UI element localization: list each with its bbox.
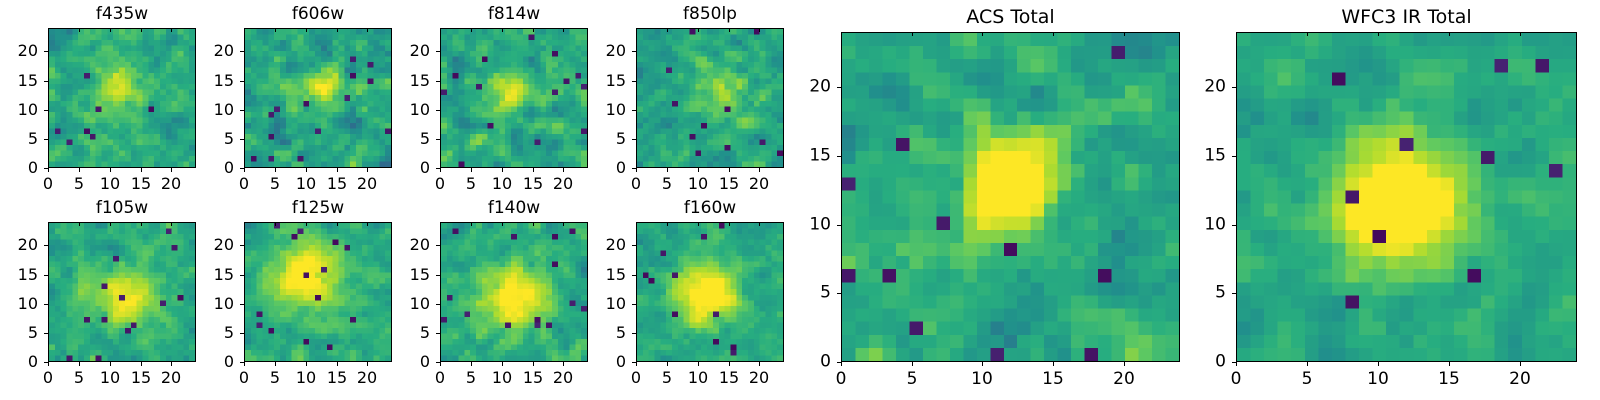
y-tick-f125w-15 bbox=[240, 275, 244, 276]
y-tick-label-f140w-15: 15 bbox=[400, 267, 430, 283]
x-tick-label-f435w-20: 20 bbox=[161, 176, 181, 192]
x-tick-f606w-5 bbox=[275, 168, 276, 172]
y-tick-f606w-15 bbox=[240, 81, 244, 82]
y-tick-f606w-0 bbox=[240, 168, 244, 169]
x-tick-label-f105w-20: 20 bbox=[161, 370, 181, 386]
x-tick-label-acs-total-5: 5 bbox=[907, 371, 918, 388]
x-tick-label-acs-total-15: 15 bbox=[1042, 371, 1064, 388]
y-tick-f125w-20 bbox=[240, 245, 244, 246]
y-tick-f105w-10 bbox=[44, 304, 48, 305]
x-tick-label-f850lp-20: 20 bbox=[749, 176, 769, 192]
x-tick-f850lp-5 bbox=[667, 168, 668, 172]
x-tick-f160w-10 bbox=[698, 362, 699, 366]
x-tick-top-f814w-10 bbox=[502, 28, 503, 32]
y-tick-label-f105w-15: 15 bbox=[8, 267, 38, 283]
y-tick-label-f105w-20: 20 bbox=[8, 237, 38, 253]
x-tick-top-acs-total-0 bbox=[841, 32, 842, 36]
x-tick-top-acs-total-5 bbox=[912, 32, 913, 36]
y-tick-label-wfc3-ir-total-10: 10 bbox=[1192, 217, 1226, 234]
x-tick-f125w-20 bbox=[367, 362, 368, 366]
y-tick-label-wfc3-ir-total-0: 0 bbox=[1192, 354, 1226, 371]
x-tick-label-f160w-20: 20 bbox=[749, 370, 769, 386]
x-tick-top-wfc3-ir-total-15 bbox=[1449, 32, 1450, 36]
x-tick-top-acs-total-15 bbox=[1053, 32, 1054, 36]
y-tick-f814w-20 bbox=[436, 51, 440, 52]
axes-wfc3-ir-total bbox=[1236, 32, 1577, 362]
y-tick-f140w-20 bbox=[436, 245, 440, 246]
y-tick-label-f105w-0: 0 bbox=[8, 354, 38, 370]
x-tick-wfc3-ir-total-5 bbox=[1307, 362, 1308, 366]
panel-title-f105w: f105w bbox=[48, 200, 196, 217]
panel-title-f125w: f125w bbox=[244, 200, 392, 217]
x-tick-label-wfc3-ir-total-0: 0 bbox=[1231, 371, 1242, 388]
x-tick-f125w-15 bbox=[337, 362, 338, 366]
panel-title-f814w: f814w bbox=[440, 6, 588, 23]
y-tick-acs-total-5 bbox=[837, 293, 841, 294]
x-tick-f105w-15 bbox=[141, 362, 142, 366]
axes-f606w bbox=[244, 28, 392, 168]
y-tick-label-acs-total-15: 15 bbox=[797, 148, 831, 165]
y-tick-label-f140w-5: 5 bbox=[400, 325, 430, 341]
x-tick-f140w-15 bbox=[533, 362, 534, 366]
x-tick-label-f814w-5: 5 bbox=[466, 176, 476, 192]
x-tick-label-wfc3-ir-total-20: 20 bbox=[1509, 371, 1531, 388]
y-tick-label-f606w-10: 10 bbox=[204, 102, 234, 118]
x-tick-label-wfc3-ir-total-15: 15 bbox=[1438, 371, 1460, 388]
x-tick-f850lp-0 bbox=[636, 168, 637, 172]
x-tick-wfc3-ir-total-20 bbox=[1520, 362, 1521, 366]
y-tick-f140w-5 bbox=[436, 333, 440, 334]
x-tick-top-f814w-20 bbox=[563, 28, 564, 32]
x-tick-f435w-15 bbox=[141, 168, 142, 172]
y-tick-label-f814w-15: 15 bbox=[400, 73, 430, 89]
heatmap-image-f606w bbox=[245, 29, 391, 167]
y-tick-label-f160w-15: 15 bbox=[596, 267, 626, 283]
y-tick-f125w-0 bbox=[240, 362, 244, 363]
y-tick-f435w-5 bbox=[44, 139, 48, 140]
x-tick-label-f105w-5: 5 bbox=[74, 370, 84, 386]
x-tick-f125w-0 bbox=[244, 362, 245, 366]
x-tick-top-f140w-15 bbox=[533, 222, 534, 226]
x-tick-top-f435w-10 bbox=[110, 28, 111, 32]
heatmap-image-wfc3-ir-total bbox=[1237, 33, 1576, 361]
y-tick-f140w-15 bbox=[436, 275, 440, 276]
x-tick-top-f606w-15 bbox=[337, 28, 338, 32]
y-tick-label-wfc3-ir-total-15: 15 bbox=[1192, 148, 1226, 165]
y-tick-label-f850lp-0: 0 bbox=[596, 160, 626, 176]
axes-f105w bbox=[48, 222, 196, 362]
y-tick-f140w-10 bbox=[436, 304, 440, 305]
x-tick-wfc3-ir-total-10 bbox=[1378, 362, 1379, 366]
x-tick-top-f850lp-5 bbox=[667, 28, 668, 32]
x-tick-label-f606w-20: 20 bbox=[357, 176, 377, 192]
y-tick-label-f125w-20: 20 bbox=[204, 237, 234, 253]
x-tick-top-f814w-15 bbox=[533, 28, 534, 32]
x-tick-label-f606w-0: 0 bbox=[239, 176, 249, 192]
y-tick-label-f125w-15: 15 bbox=[204, 267, 234, 283]
x-tick-top-f125w-5 bbox=[275, 222, 276, 226]
x-tick-top-f125w-15 bbox=[337, 222, 338, 226]
x-tick-label-f160w-10: 10 bbox=[688, 370, 708, 386]
x-tick-f125w-10 bbox=[306, 362, 307, 366]
y-tick-f435w-20 bbox=[44, 51, 48, 52]
y-tick-label-f435w-5: 5 bbox=[8, 131, 38, 147]
panel-title-f606w: f606w bbox=[244, 6, 392, 23]
y-tick-label-f125w-5: 5 bbox=[204, 325, 234, 341]
y-tick-label-f140w-20: 20 bbox=[400, 237, 430, 253]
x-tick-top-f160w-20 bbox=[759, 222, 760, 226]
x-tick-acs-total-5 bbox=[912, 362, 913, 366]
x-tick-f140w-5 bbox=[471, 362, 472, 366]
axes-f814w bbox=[440, 28, 588, 168]
y-tick-label-f606w-0: 0 bbox=[204, 160, 234, 176]
y-tick-f850lp-15 bbox=[632, 81, 636, 82]
x-tick-label-f125w-0: 0 bbox=[239, 370, 249, 386]
y-tick-f160w-10 bbox=[632, 304, 636, 305]
y-tick-f814w-0 bbox=[436, 168, 440, 169]
x-tick-wfc3-ir-total-15 bbox=[1449, 362, 1450, 366]
x-tick-top-f606w-5 bbox=[275, 28, 276, 32]
x-tick-top-f105w-5 bbox=[79, 222, 80, 226]
x-tick-top-f814w-0 bbox=[440, 28, 441, 32]
x-tick-label-f435w-15: 15 bbox=[131, 176, 151, 192]
y-tick-label-f140w-10: 10 bbox=[400, 296, 430, 312]
x-tick-top-acs-total-20 bbox=[1124, 32, 1125, 36]
panel-title-f140w: f140w bbox=[440, 200, 588, 217]
x-tick-f850lp-20 bbox=[759, 168, 760, 172]
heatmap-image-acs-total bbox=[842, 33, 1179, 361]
x-tick-top-f140w-0 bbox=[440, 222, 441, 226]
y-tick-label-f160w-20: 20 bbox=[596, 237, 626, 253]
axes-f160w bbox=[636, 222, 784, 362]
x-tick-acs-total-10 bbox=[982, 362, 983, 366]
y-tick-f850lp-0 bbox=[632, 168, 636, 169]
y-tick-label-f606w-15: 15 bbox=[204, 73, 234, 89]
y-tick-label-f435w-15: 15 bbox=[8, 73, 38, 89]
x-tick-label-f606w-5: 5 bbox=[270, 176, 280, 192]
x-tick-top-f105w-10 bbox=[110, 222, 111, 226]
y-tick-label-f814w-5: 5 bbox=[400, 131, 430, 147]
y-tick-wfc3-ir-total-15 bbox=[1232, 156, 1236, 157]
x-tick-top-wfc3-ir-total-5 bbox=[1307, 32, 1308, 36]
heatmap-image-f160w bbox=[637, 223, 783, 361]
x-tick-f160w-20 bbox=[759, 362, 760, 366]
y-tick-f814w-10 bbox=[436, 110, 440, 111]
x-tick-top-f160w-10 bbox=[698, 222, 699, 226]
x-tick-label-f140w-0: 0 bbox=[435, 370, 445, 386]
x-tick-top-f435w-20 bbox=[171, 28, 172, 32]
x-tick-acs-total-15 bbox=[1053, 362, 1054, 366]
y-tick-label-f814w-20: 20 bbox=[400, 43, 430, 59]
x-tick-f160w-0 bbox=[636, 362, 637, 366]
x-tick-label-f160w-5: 5 bbox=[662, 370, 672, 386]
x-tick-top-f105w-0 bbox=[48, 222, 49, 226]
x-tick-label-f814w-20: 20 bbox=[553, 176, 573, 192]
y-tick-acs-total-10 bbox=[837, 225, 841, 226]
x-tick-top-f435w-0 bbox=[48, 28, 49, 32]
x-tick-label-f814w-0: 0 bbox=[435, 176, 445, 192]
y-tick-label-wfc3-ir-total-5: 5 bbox=[1192, 285, 1226, 302]
x-tick-top-f850lp-15 bbox=[729, 28, 730, 32]
y-tick-f814w-15 bbox=[436, 81, 440, 82]
x-tick-label-f140w-20: 20 bbox=[553, 370, 573, 386]
x-tick-f814w-20 bbox=[563, 168, 564, 172]
x-tick-label-f814w-10: 10 bbox=[492, 176, 512, 192]
y-tick-label-f160w-5: 5 bbox=[596, 325, 626, 341]
x-tick-top-f850lp-0 bbox=[636, 28, 637, 32]
x-tick-f814w-5 bbox=[471, 168, 472, 172]
x-tick-f814w-10 bbox=[502, 168, 503, 172]
axes-acs-total bbox=[841, 32, 1180, 362]
x-tick-label-acs-total-20: 20 bbox=[1113, 371, 1135, 388]
x-tick-top-f160w-15 bbox=[729, 222, 730, 226]
x-tick-label-f125w-15: 15 bbox=[327, 370, 347, 386]
x-tick-top-f140w-5 bbox=[471, 222, 472, 226]
heatmap-image-f105w bbox=[49, 223, 195, 361]
axes-f850lp bbox=[636, 28, 784, 168]
panel-title-f160w: f160w bbox=[636, 200, 784, 217]
x-tick-top-f125w-10 bbox=[306, 222, 307, 226]
y-tick-f160w-5 bbox=[632, 333, 636, 334]
y-tick-label-f160w-10: 10 bbox=[596, 296, 626, 312]
y-tick-label-f814w-0: 0 bbox=[400, 160, 430, 176]
y-tick-wfc3-ir-total-0 bbox=[1232, 362, 1236, 363]
heatmap-image-f814w bbox=[441, 29, 587, 167]
y-tick-label-f606w-5: 5 bbox=[204, 131, 234, 147]
x-tick-label-f140w-5: 5 bbox=[466, 370, 476, 386]
y-tick-label-f160w-0: 0 bbox=[596, 354, 626, 370]
y-tick-f606w-5 bbox=[240, 139, 244, 140]
x-tick-f850lp-15 bbox=[729, 168, 730, 172]
x-tick-label-f435w-10: 10 bbox=[100, 176, 120, 192]
x-tick-top-wfc3-ir-total-0 bbox=[1236, 32, 1237, 36]
x-tick-label-f105w-0: 0 bbox=[43, 370, 53, 386]
y-tick-label-f140w-0: 0 bbox=[400, 354, 430, 370]
y-tick-acs-total-0 bbox=[837, 362, 841, 363]
y-tick-f125w-10 bbox=[240, 304, 244, 305]
y-tick-label-f850lp-15: 15 bbox=[596, 73, 626, 89]
x-tick-label-acs-total-0: 0 bbox=[836, 371, 847, 388]
x-tick-top-f140w-10 bbox=[502, 222, 503, 226]
y-tick-f435w-15 bbox=[44, 81, 48, 82]
x-tick-top-f125w-20 bbox=[367, 222, 368, 226]
x-tick-label-f850lp-10: 10 bbox=[688, 176, 708, 192]
heatmap-image-f125w bbox=[245, 223, 391, 361]
y-tick-label-f850lp-5: 5 bbox=[596, 131, 626, 147]
x-tick-f814w-15 bbox=[533, 168, 534, 172]
y-tick-acs-total-15 bbox=[837, 156, 841, 157]
y-tick-f435w-0 bbox=[44, 168, 48, 169]
y-tick-f606w-10 bbox=[240, 110, 244, 111]
y-tick-label-acs-total-5: 5 bbox=[797, 285, 831, 302]
y-tick-wfc3-ir-total-5 bbox=[1232, 293, 1236, 294]
y-tick-label-f435w-10: 10 bbox=[8, 102, 38, 118]
x-tick-top-f850lp-10 bbox=[698, 28, 699, 32]
x-tick-wfc3-ir-total-0 bbox=[1236, 362, 1237, 366]
y-tick-f435w-10 bbox=[44, 110, 48, 111]
y-tick-f850lp-10 bbox=[632, 110, 636, 111]
x-tick-top-f606w-0 bbox=[244, 28, 245, 32]
x-tick-f606w-20 bbox=[367, 168, 368, 172]
x-tick-f606w-15 bbox=[337, 168, 338, 172]
x-tick-f105w-0 bbox=[48, 362, 49, 366]
x-tick-top-acs-total-10 bbox=[982, 32, 983, 36]
x-tick-label-f140w-10: 10 bbox=[492, 370, 512, 386]
y-tick-f850lp-20 bbox=[632, 51, 636, 52]
x-tick-top-f435w-5 bbox=[79, 28, 80, 32]
axes-f125w bbox=[244, 222, 392, 362]
panel-title-acs-total: ACS Total bbox=[841, 8, 1180, 27]
x-tick-label-f850lp-15: 15 bbox=[719, 176, 739, 192]
x-tick-f140w-0 bbox=[440, 362, 441, 366]
x-tick-f435w-0 bbox=[48, 168, 49, 172]
x-tick-top-f606w-20 bbox=[367, 28, 368, 32]
x-tick-label-f125w-20: 20 bbox=[357, 370, 377, 386]
x-tick-label-f606w-10: 10 bbox=[296, 176, 316, 192]
x-tick-label-f125w-5: 5 bbox=[270, 370, 280, 386]
panel-title-wfc3-ir-total: WFC3 IR Total bbox=[1236, 8, 1577, 27]
y-tick-f105w-5 bbox=[44, 333, 48, 334]
y-tick-acs-total-20 bbox=[837, 87, 841, 88]
y-tick-label-f105w-5: 5 bbox=[8, 325, 38, 341]
y-tick-f105w-15 bbox=[44, 275, 48, 276]
x-tick-top-wfc3-ir-total-20 bbox=[1520, 32, 1521, 36]
x-tick-top-wfc3-ir-total-10 bbox=[1378, 32, 1379, 36]
x-tick-label-f850lp-5: 5 bbox=[662, 176, 672, 192]
y-tick-label-f850lp-10: 10 bbox=[596, 102, 626, 118]
x-tick-label-f160w-15: 15 bbox=[719, 370, 739, 386]
x-tick-top-f160w-0 bbox=[636, 222, 637, 226]
x-tick-label-f125w-10: 10 bbox=[296, 370, 316, 386]
figure-canvas: f435w0510152005101520f606w05101520051015… bbox=[0, 0, 1600, 400]
x-tick-top-f435w-15 bbox=[141, 28, 142, 32]
x-tick-f160w-5 bbox=[667, 362, 668, 366]
x-tick-label-f850lp-0: 0 bbox=[631, 176, 641, 192]
x-tick-label-f105w-10: 10 bbox=[100, 370, 120, 386]
axes-f140w bbox=[440, 222, 588, 362]
x-tick-f105w-20 bbox=[171, 362, 172, 366]
x-tick-top-f850lp-20 bbox=[759, 28, 760, 32]
x-tick-top-f606w-10 bbox=[306, 28, 307, 32]
x-tick-f105w-10 bbox=[110, 362, 111, 366]
y-tick-f850lp-5 bbox=[632, 139, 636, 140]
y-tick-label-wfc3-ir-total-20: 20 bbox=[1192, 79, 1226, 96]
y-tick-label-f125w-10: 10 bbox=[204, 296, 234, 312]
y-tick-f814w-5 bbox=[436, 139, 440, 140]
x-tick-label-wfc3-ir-total-5: 5 bbox=[1302, 371, 1313, 388]
y-tick-f105w-20 bbox=[44, 245, 48, 246]
y-tick-f140w-0 bbox=[436, 362, 440, 363]
y-tick-f160w-20 bbox=[632, 245, 636, 246]
y-tick-label-acs-total-20: 20 bbox=[797, 79, 831, 96]
x-tick-label-f435w-0: 0 bbox=[43, 176, 53, 192]
x-tick-label-f160w-0: 0 bbox=[631, 370, 641, 386]
heatmap-image-f435w bbox=[49, 29, 195, 167]
x-tick-top-f140w-20 bbox=[563, 222, 564, 226]
x-tick-acs-total-20 bbox=[1124, 362, 1125, 366]
x-tick-label-wfc3-ir-total-10: 10 bbox=[1367, 371, 1389, 388]
y-tick-label-acs-total-0: 0 bbox=[797, 354, 831, 371]
x-tick-f606w-0 bbox=[244, 168, 245, 172]
x-tick-top-f160w-5 bbox=[667, 222, 668, 226]
panel-title-f435w: f435w bbox=[48, 6, 196, 23]
heatmap-image-f140w bbox=[441, 223, 587, 361]
axes-f435w bbox=[48, 28, 196, 168]
x-tick-f160w-15 bbox=[729, 362, 730, 366]
x-tick-label-f814w-15: 15 bbox=[523, 176, 543, 192]
y-tick-f125w-5 bbox=[240, 333, 244, 334]
y-tick-label-f435w-0: 0 bbox=[8, 160, 38, 176]
x-tick-label-f435w-5: 5 bbox=[74, 176, 84, 192]
x-tick-label-f606w-15: 15 bbox=[327, 176, 347, 192]
x-tick-f140w-10 bbox=[502, 362, 503, 366]
x-tick-label-f105w-15: 15 bbox=[131, 370, 151, 386]
x-tick-top-f105w-20 bbox=[171, 222, 172, 226]
y-tick-f606w-20 bbox=[240, 51, 244, 52]
x-tick-f125w-5 bbox=[275, 362, 276, 366]
x-tick-f105w-5 bbox=[79, 362, 80, 366]
x-tick-top-f814w-5 bbox=[471, 28, 472, 32]
y-tick-label-f105w-10: 10 bbox=[8, 296, 38, 312]
x-tick-f606w-10 bbox=[306, 168, 307, 172]
y-tick-label-f850lp-20: 20 bbox=[596, 43, 626, 59]
y-tick-label-acs-total-10: 10 bbox=[797, 217, 831, 234]
x-tick-f814w-0 bbox=[440, 168, 441, 172]
x-tick-f435w-20 bbox=[171, 168, 172, 172]
panel-title-f850lp: f850lp bbox=[636, 6, 784, 23]
y-tick-wfc3-ir-total-10 bbox=[1232, 225, 1236, 226]
y-tick-f160w-0 bbox=[632, 362, 636, 363]
x-tick-f850lp-10 bbox=[698, 168, 699, 172]
x-tick-top-f105w-15 bbox=[141, 222, 142, 226]
x-tick-acs-total-0 bbox=[841, 362, 842, 366]
x-tick-label-f140w-15: 15 bbox=[523, 370, 543, 386]
x-tick-f435w-10 bbox=[110, 168, 111, 172]
heatmap-image-f850lp bbox=[637, 29, 783, 167]
x-tick-label-acs-total-10: 10 bbox=[971, 371, 993, 388]
y-tick-label-f125w-0: 0 bbox=[204, 354, 234, 370]
x-tick-f435w-5 bbox=[79, 168, 80, 172]
y-tick-wfc3-ir-total-20 bbox=[1232, 87, 1236, 88]
x-tick-top-f125w-0 bbox=[244, 222, 245, 226]
y-tick-label-f814w-10: 10 bbox=[400, 102, 430, 118]
y-tick-f105w-0 bbox=[44, 362, 48, 363]
y-tick-f160w-15 bbox=[632, 275, 636, 276]
x-tick-f140w-20 bbox=[563, 362, 564, 366]
y-tick-label-f435w-20: 20 bbox=[8, 43, 38, 59]
y-tick-label-f606w-20: 20 bbox=[204, 43, 234, 59]
